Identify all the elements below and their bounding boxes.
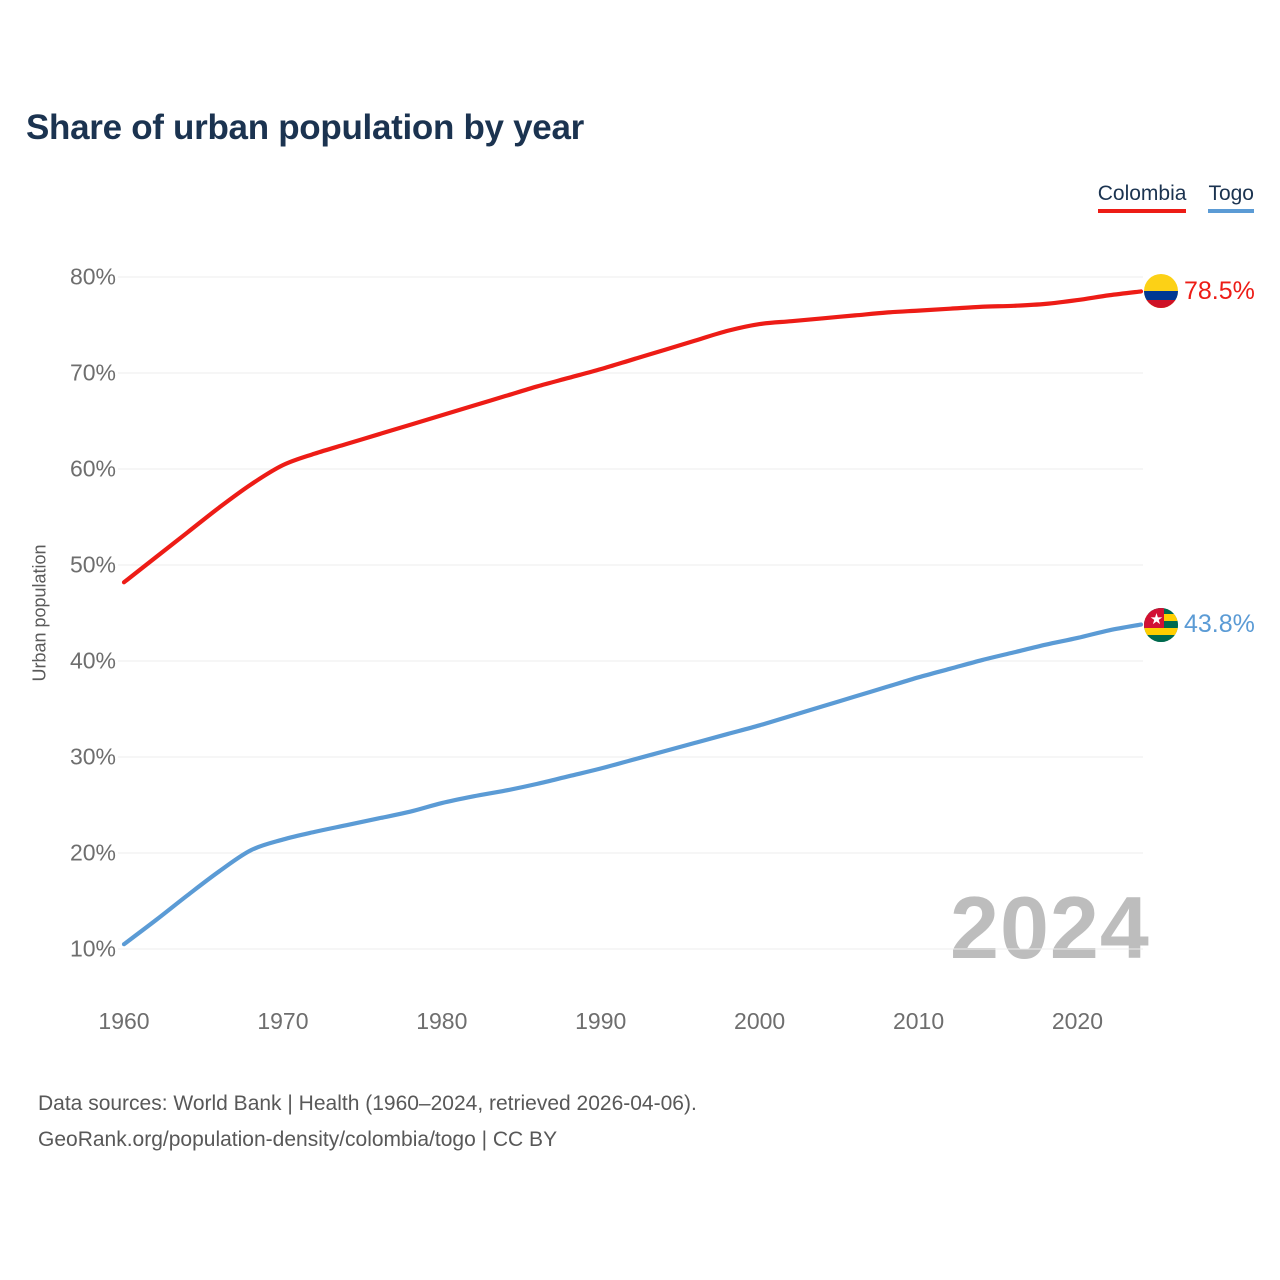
x-axis-tick-label: 1960 bbox=[98, 1008, 149, 1035]
series-line-togo bbox=[124, 625, 1141, 945]
x-axis-tick-label: 2000 bbox=[734, 1008, 785, 1035]
endpoint-value-colombia: 78.5% bbox=[1184, 277, 1255, 306]
gridlines bbox=[118, 277, 1143, 949]
footer-line-1: Data sources: World Bank | Health (1960–… bbox=[38, 1086, 697, 1122]
footer-line-2: GeoRank.org/population-density/colombia/… bbox=[38, 1122, 697, 1158]
footer-sources: Data sources: World Bank | Health (1960–… bbox=[38, 1086, 697, 1158]
endpoint-colombia[interactable]: 78.5% bbox=[1144, 274, 1255, 308]
x-axis-tick-label: 2010 bbox=[893, 1008, 944, 1035]
colombia-flag-icon bbox=[1144, 274, 1178, 308]
plot-area bbox=[124, 277, 1141, 949]
x-axis-tick-label: 1970 bbox=[257, 1008, 308, 1035]
endpoint-togo[interactable]: ★ 43.8% bbox=[1144, 608, 1255, 642]
series-line-colombia bbox=[124, 291, 1141, 582]
x-axis-tick-label: 2020 bbox=[1052, 1008, 1103, 1035]
plot-svg bbox=[124, 277, 1141, 949]
x-axis-tick-label: 1990 bbox=[575, 1008, 626, 1035]
togo-flag-icon: ★ bbox=[1144, 608, 1178, 642]
chart-page: Share of urban population by year Colomb… bbox=[0, 0, 1280, 1280]
x-axis-tick-label: 1980 bbox=[416, 1008, 467, 1035]
endpoint-value-togo: 43.8% bbox=[1184, 610, 1255, 639]
series-paths bbox=[124, 291, 1141, 944]
